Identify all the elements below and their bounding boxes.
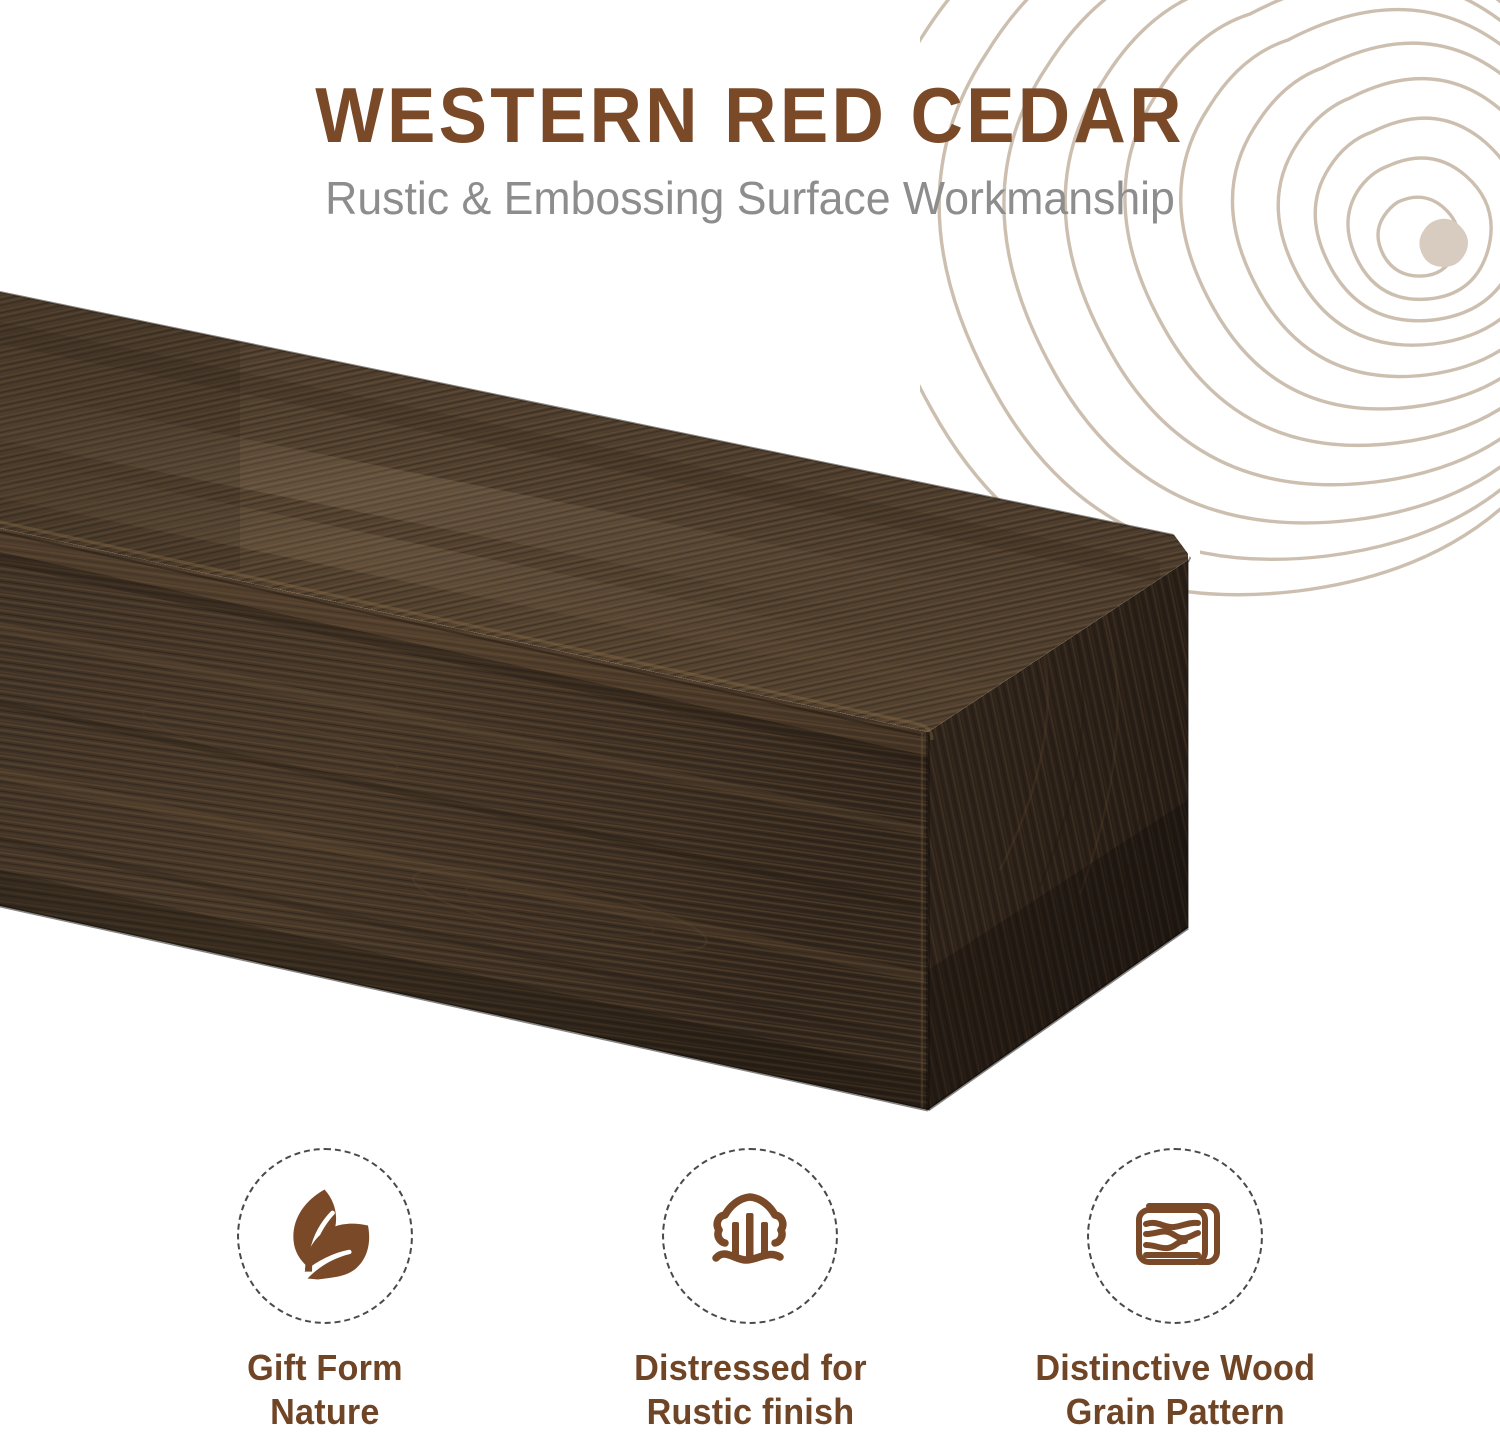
- product-infographic: WESTERN RED CEDAR Rustic & Embossing Sur…: [0, 0, 1500, 1434]
- feature-item-gift-form-nature: Gift Form Nature: [150, 1148, 500, 1434]
- page-title: WESTERN RED CEDAR: [53, 76, 1448, 156]
- tree-with-trunk-rings-icon: [694, 1180, 806, 1292]
- feature-badge-2: [662, 1148, 838, 1324]
- leaves-icon: [270, 1181, 380, 1291]
- feature-item-distressed-rustic-finish: Distressed for Rustic finish: [575, 1148, 925, 1434]
- feature-badge-1: [237, 1148, 413, 1324]
- header: WESTERN RED CEDAR Rustic & Embossing Sur…: [0, 0, 1500, 222]
- feature-highlights-row: Gift Form Nature: [150, 1148, 1350, 1434]
- feature-caption-1: Gift Form Nature: [247, 1346, 403, 1434]
- feature-caption-2: Distressed for Rustic finish: [634, 1346, 867, 1434]
- feature-caption-3: Distinctive Wood Grain Pattern: [1035, 1346, 1315, 1434]
- page-subtitle: Rustic & Embossing Surface Workmanship: [23, 174, 1478, 222]
- feature-badge-3: [1087, 1148, 1263, 1324]
- wood-board-grain-icon: [1119, 1180, 1231, 1292]
- feature-item-distinctive-grain: Distinctive Wood Grain Pattern: [1000, 1148, 1350, 1434]
- western-red-cedar-beam-image: [0, 270, 1260, 1150]
